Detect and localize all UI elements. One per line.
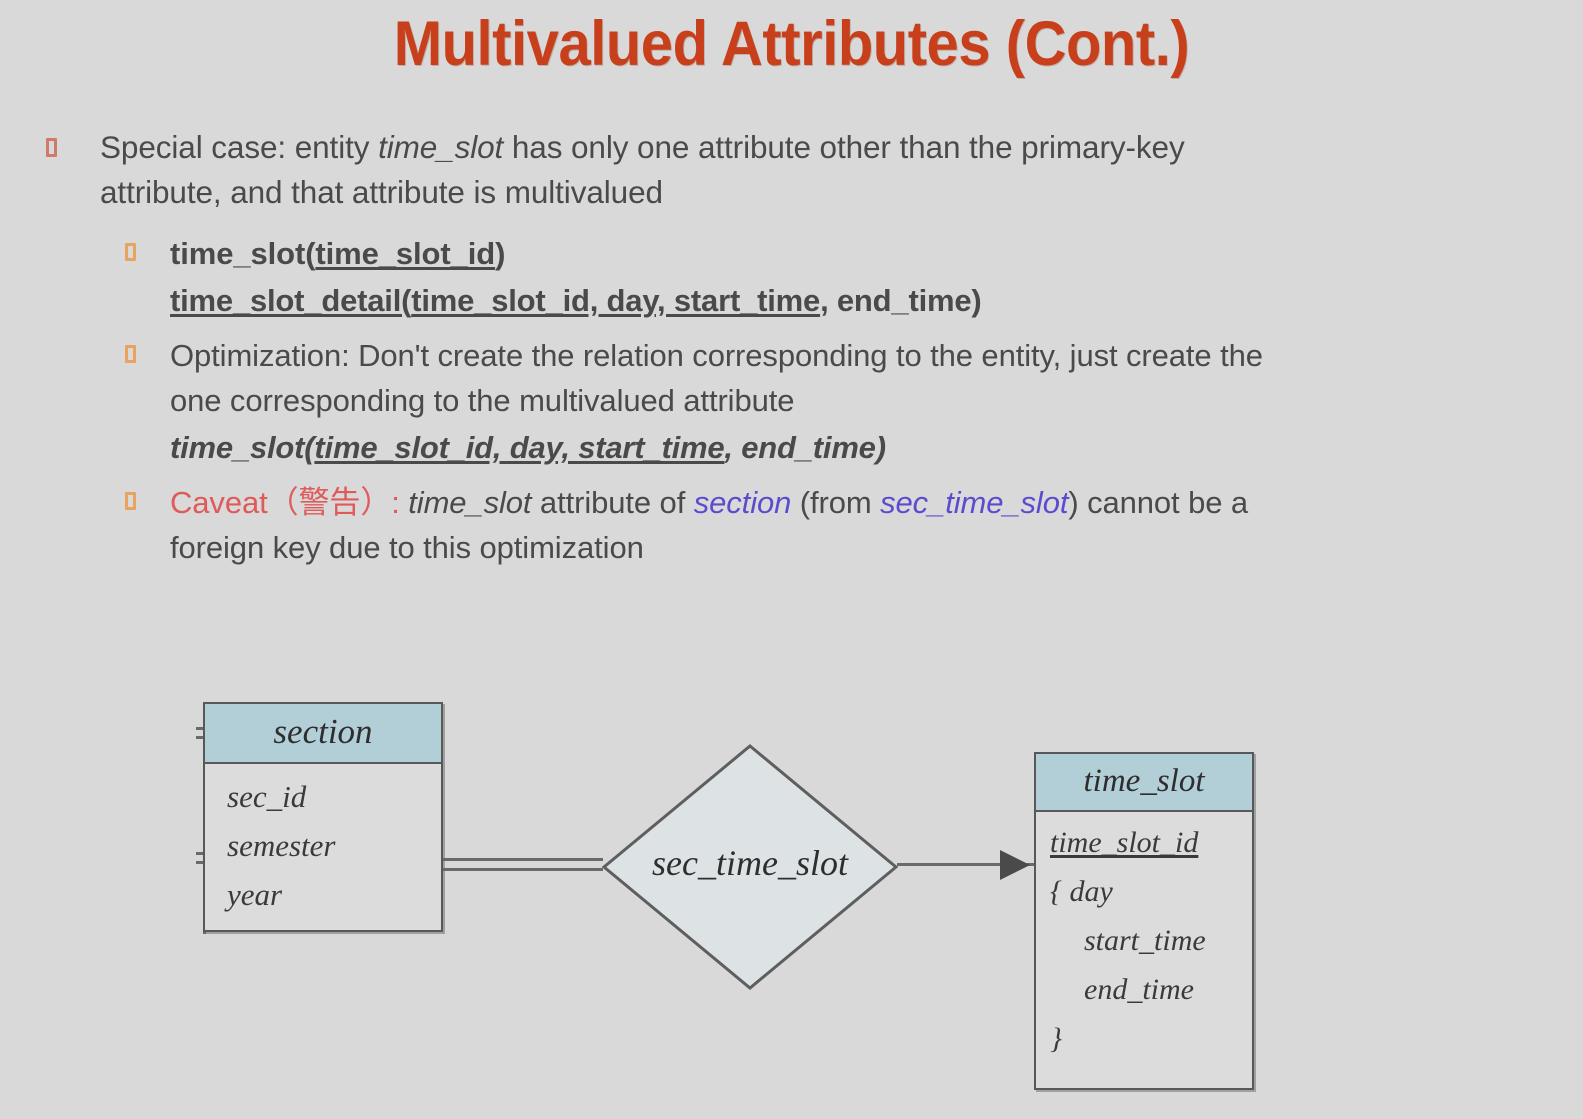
page-title: Multivalued Attributes (Cont.) <box>63 8 1519 80</box>
primary-key: time_slot_id, day, start_time <box>411 283 820 318</box>
spacer <box>0 221 1583 231</box>
bullet-optimization-text: Optimization: Don't create the relation … <box>170 338 1263 418</box>
attribute-semester: semester <box>227 821 441 870</box>
connector-double-line-bottom <box>443 868 603 871</box>
paren-close: ) <box>495 236 505 271</box>
primary-key: time_slot_id, day, start_time <box>314 430 724 465</box>
connector-double-line-top <box>443 858 603 861</box>
square-outline-bullet-icon <box>125 243 136 261</box>
slide-content: Special case: entity time_slot has only … <box>0 125 1583 572</box>
relation-name: time_slot( <box>170 236 315 271</box>
bullet-caveat: Caveat（警告）: time_slot attribute of secti… <box>0 480 1583 570</box>
attribute-time-slot-id: time_slot_id <box>1050 818 1252 867</box>
attribute-start-time: start_time <box>1050 916 1252 965</box>
caveat-colon: : <box>391 485 408 520</box>
attribute-sec-id: sec_id <box>227 772 441 821</box>
attribute-day: { day <box>1050 867 1252 916</box>
spacer <box>0 323 1583 333</box>
er-diagram: section sec_id semester year sec_time_sl… <box>0 680 1583 1110</box>
relation-time-slot-detail: time_slot_detail(time_slot_id, day, star… <box>170 283 982 318</box>
entity-title-time-slot: time_slot <box>1036 754 1252 812</box>
square-outline-bullet-icon <box>46 138 57 157</box>
relation-time-slot: time_slot(time_slot_id) <box>170 236 505 271</box>
text-part: Special case: entity <box>100 129 378 165</box>
bullet-special-case: Special case: entity time_slot has only … <box>0 125 1583 215</box>
entity-box-time-slot: time_slot time_slot_id { day start_time … <box>1034 752 1254 1090</box>
relationship-sec-time-slot: sec_time_slot <box>880 485 1068 520</box>
relation-name: time_slot( <box>170 430 314 465</box>
entity-title-section: section <box>205 704 441 764</box>
entity-section: section <box>694 485 792 520</box>
square-outline-bullet-icon <box>125 345 136 363</box>
bullet-caveat-text: Caveat（警告）: time_slot attribute of secti… <box>170 485 1248 565</box>
entity-attributes-section: sec_id semester year <box>205 764 441 919</box>
relation-time-slot-detail-row: time_slot_detail(time_slot_id, day, star… <box>0 278 1583 323</box>
bullet-special-case-text: Special case: entity time_slot has only … <box>100 129 1185 210</box>
relation-name: time_slot_detail( <box>170 283 411 318</box>
relation-time-slot-optimized: time_slot(time_slot_id, day, start_time,… <box>170 430 886 465</box>
primary-key: time_slot_id <box>315 236 495 271</box>
text-part: attribute of <box>531 485 693 520</box>
attribute-end-time: end_time <box>1050 965 1252 1014</box>
bullet-optimization: Optimization: Don't create the relation … <box>0 333 1583 423</box>
diamond-shape-icon <box>600 742 900 992</box>
entity-box-section: section sec_id semester year <box>203 702 443 932</box>
text-part: (from <box>791 485 880 520</box>
entity-attributes-time-slot: time_slot_id { day start_time end_time } <box>1036 812 1252 1063</box>
non-key-attrs: , end_time) <box>820 283 981 318</box>
attribute-year: year <box>227 870 441 919</box>
caveat-label: Caveat（警告） <box>170 485 391 520</box>
relation-time-slot-optimized-row: time_slot(time_slot_id, day, start_time,… <box>0 425 1583 470</box>
non-key-attrs: , end_time) <box>724 430 885 465</box>
multivalued-brace-close: } <box>1050 1014 1252 1063</box>
entity-name-time-slot: time_slot <box>378 129 503 165</box>
spacer <box>0 470 1583 480</box>
relationship-sec-time-slot: sec_time_slot <box>600 742 900 992</box>
square-outline-bullet-icon <box>125 492 136 510</box>
attr-time-slot: time_slot <box>408 485 531 520</box>
bullet-time-slot-relation: time_slot(time_slot_id) <box>0 231 1583 276</box>
arrow-head-icon <box>1000 850 1030 880</box>
